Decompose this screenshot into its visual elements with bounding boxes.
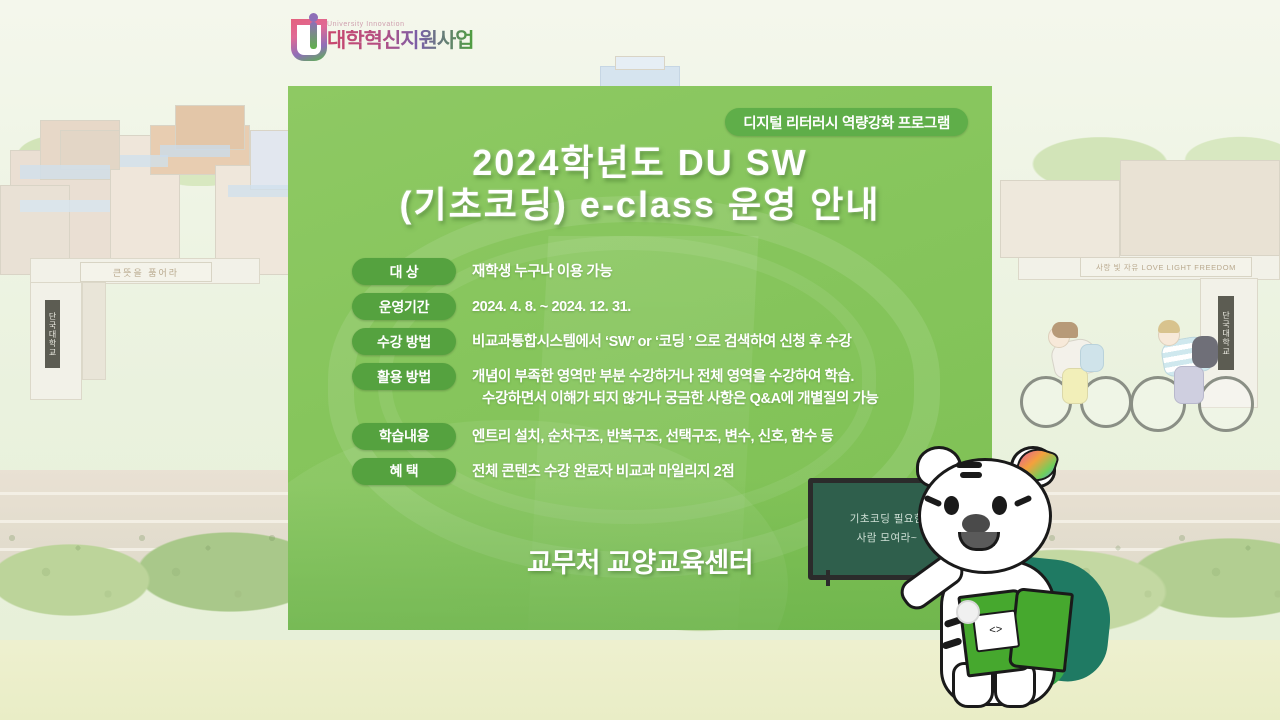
mascot-eye-left (944, 496, 959, 515)
info-row-enrollment: 수강 방법 비교과통합시스템에서 ‘SW’ or ‘코딩 ’ 으로 검색하여 신… (352, 328, 952, 355)
row-value-content: 엔트리 설치, 순차구조, 반복구조, 선택구조, 변수, 신호, 함수 등 (472, 423, 833, 448)
logo-stem (310, 22, 317, 49)
info-row-usage: 활용 방법 개념이 부족한 영역만 부분 수강하거나 전체 영역을 수강하여 학… (352, 363, 952, 411)
mascot-head-stripe (960, 472, 982, 478)
info-row-content: 학습내용 엔트리 설치, 순차구조, 반복구조, 선택구조, 변수, 신호, 함… (352, 423, 952, 450)
cyclist-legs (1062, 368, 1088, 404)
row-value-enrollment: 비교과통합시스템에서 ‘SW’ or ‘코딩 ’ 으로 검색하여 신청 후 수강 (472, 328, 851, 353)
cyclist-hair (1052, 322, 1078, 338)
blackboard-leg-left (826, 570, 830, 586)
background-window (20, 200, 110, 212)
cyclist-backpack (1192, 336, 1218, 368)
mascot-head-stripe (956, 462, 982, 468)
row-label-period: 운영기간 (352, 293, 456, 320)
background-window (160, 145, 230, 157)
info-row-period: 운영기간 2024. 4. 8. ~ 2024. 12. 31. (352, 293, 952, 320)
row-label-usage: 활용 방법 (352, 363, 456, 390)
campus-gate-left-pillar-2 (82, 282, 106, 380)
white-tiger-mascot: <> (900, 440, 1160, 720)
logo-dot (309, 13, 318, 22)
row-value-content-line1: 엔트리 설치, 순차구조, 반복구조, 선택구조, 변수, 신호, 함수 등 (472, 429, 833, 445)
cyclist-legs (1174, 366, 1204, 404)
row-value-usage-line2: 수강하면서 이해가 되지 않거나 궁금한 사항은 Q&A에 개별질의 가능 (472, 388, 879, 410)
page-title: 2024학년도 DU SW (기초코딩) e-class 운영 안내 (288, 142, 992, 227)
row-label-enrollment: 수강 방법 (352, 328, 456, 355)
logo-text-block: University Innovation 대학혁신지원사업 (327, 21, 474, 51)
program-badge: 디지털 리터러시 역량강화 프로그램 (725, 108, 968, 136)
row-value-usage: 개념이 부족한 영역만 부분 수강하거나 전체 영역을 수강하여 학습. 수강하… (472, 363, 879, 411)
background-building-right-2 (1120, 160, 1280, 256)
cyclist-right (1130, 316, 1260, 432)
info-rows: 대 상 재학생 누구나 이용 가능 운영기간 2024. 4. 8. ~ 202… (352, 258, 952, 493)
mascot-medal (956, 600, 980, 624)
row-value-period: 2024. 4. 8. ~ 2024. 12. 31. (472, 293, 631, 318)
gate-sign-left: 큰뜻을 품어라 (80, 262, 212, 282)
logo-u-shape (291, 19, 327, 61)
row-value-enrollment-line1: 비교과통합시스템에서 ‘SW’ or ‘코딩 ’ 으로 검색하여 신청 후 수강 (472, 334, 851, 350)
gate-sign-right: 사랑 빛 자유 LOVE LIGHT FREEDOM (1080, 257, 1252, 277)
row-label-target: 대 상 (352, 258, 456, 285)
row-value-benefit: 전체 콘텐츠 수강 완료자 비교과 마일리지 2점 (472, 458, 734, 483)
logo-korean-text: 대학혁신지원사업 (327, 30, 474, 51)
background-building (175, 105, 245, 150)
row-value-usage-line1: 개념이 부족한 영역만 부분 수강하거나 전체 영역을 수강하여 학습. (472, 369, 854, 385)
poster-canvas: 큰뜻을 품어라 단국대학교 사랑 빛 자유 LOVE LIGHT FREEDOM… (0, 0, 1280, 720)
university-innovation-logo: University Innovation 대학혁신지원사업 (291, 13, 474, 51)
cyclist-backpack (1080, 344, 1104, 372)
cyclist-hair (1158, 320, 1180, 333)
cyclist-left (1018, 318, 1138, 428)
logo-english-text: University Innovation (327, 21, 474, 28)
gate-pillar-left-label: 단국대학교 (45, 300, 60, 368)
row-value-benefit-line1: 전체 콘텐츠 수강 완료자 비교과 마일리지 2점 (472, 464, 734, 480)
gate-sign-left-text: 큰뜻을 품어라 (113, 266, 179, 279)
info-row-target: 대 상 재학생 누구나 이용 가능 (352, 258, 952, 285)
mascot-nose (962, 514, 990, 534)
title-line-1: 2024학년도 DU SW (288, 142, 992, 184)
title-line-2: (기초코딩) e-class 운영 안내 (288, 184, 992, 226)
program-badge-label: 디지털 리터러시 역량강화 프로그램 (743, 112, 950, 133)
background-building-center-2 (615, 56, 665, 70)
u-logo-icon (291, 13, 321, 51)
row-label-content: 학습내용 (352, 423, 456, 450)
row-value-target: 재학생 누구나 이용 가능 (472, 258, 612, 283)
mascot-eye-right (992, 496, 1007, 515)
background-window (20, 165, 110, 179)
gate-sign-right-text: 사랑 빛 자유 LOVE LIGHT FREEDOM (1096, 262, 1236, 273)
background-building-right (1000, 180, 1120, 258)
row-value-period-line1: 2024. 4. 8. ~ 2024. 12. 31. (472, 299, 631, 315)
background-building (60, 130, 120, 170)
row-value-target-line1: 재학생 누구나 이용 가능 (472, 264, 612, 280)
bicycle-wheel (1198, 376, 1254, 432)
row-label-benefit: 혜 택 (352, 458, 456, 485)
